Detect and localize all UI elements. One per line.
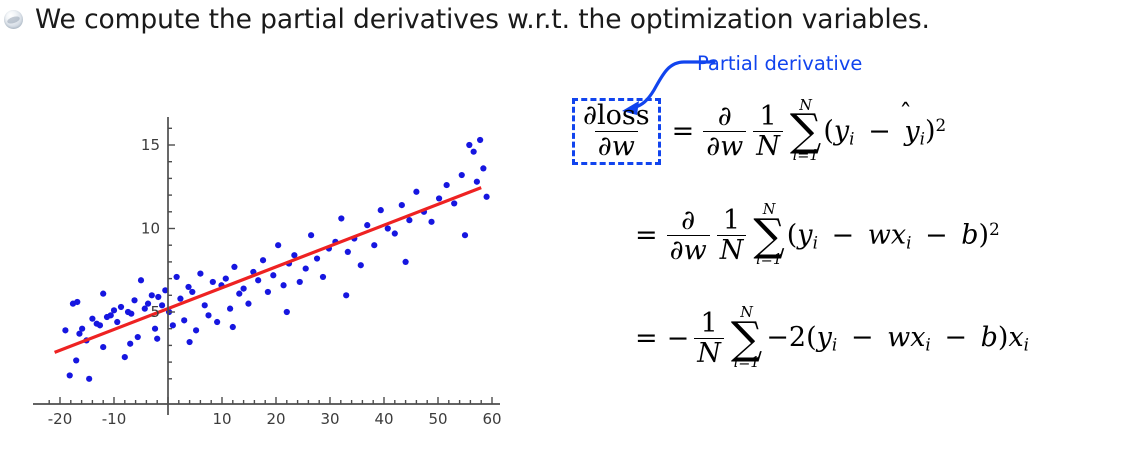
chart-point <box>308 232 314 238</box>
slide-canvas: We compute the partial derivatives w.r.t… <box>0 0 1121 454</box>
chart-point <box>280 282 286 288</box>
chart-point <box>320 274 326 280</box>
one-over-n-1: 1 N <box>753 103 783 161</box>
chart-point <box>227 306 233 312</box>
chart-point <box>138 277 144 283</box>
chart-point <box>255 277 261 283</box>
chart-point <box>86 376 92 382</box>
bullet-text: We compute the partial derivatives w.r.t… <box>35 6 930 34</box>
chart-point <box>245 301 251 307</box>
x-tick-label: 10 <box>212 410 231 428</box>
chart-point <box>338 215 344 221</box>
equation-body-3: −2(yi − wxi − b)xi <box>766 322 1029 355</box>
chart-point <box>378 207 384 213</box>
chart-point <box>181 317 187 323</box>
chart-point <box>223 276 229 282</box>
chart-point <box>236 291 242 297</box>
chart-point <box>197 270 203 276</box>
chart-point <box>114 319 120 325</box>
chart-svg: -20-1010203040506051015 <box>0 90 560 440</box>
equation-line-1: ∂loss ∂w = ∂ ∂w 1 N N ∑ i=1 (yi − ̂yi)2 <box>572 98 946 165</box>
chart-point <box>314 255 320 261</box>
chart-point <box>79 326 85 332</box>
chart-point <box>170 322 176 328</box>
chart-point <box>62 327 68 333</box>
chart-point <box>444 182 450 188</box>
chart-point <box>385 225 391 231</box>
chart-point <box>214 319 220 325</box>
chart-point <box>364 222 370 228</box>
chart-point <box>265 289 271 295</box>
x-tick-label: 50 <box>428 410 447 428</box>
one-over-n-2: 1 N <box>717 207 747 265</box>
chart-data-points <box>62 137 489 382</box>
chart-point <box>127 341 133 347</box>
chart-point <box>111 307 117 313</box>
chart-axes <box>33 117 500 415</box>
summation-2: N ∑ i=1 <box>753 204 784 268</box>
equation-line-3: = − 1 N N ∑ i=1 −2(yi − wxi − b)xi <box>628 307 1029 371</box>
equation-body-1: (yi − ̂yi)2 <box>823 115 946 148</box>
chart-point <box>118 304 124 310</box>
equation-line-2: = ∂ ∂w 1 N N ∑ i=1 (yi − wxi − b)2 <box>628 204 1000 268</box>
chart-point <box>67 372 73 378</box>
chart-point <box>210 279 216 285</box>
chart-point <box>135 334 141 340</box>
chart-point <box>73 357 79 363</box>
chart-point <box>202 302 208 308</box>
chart-point <box>462 232 468 238</box>
chart-point <box>122 354 128 360</box>
chart-point <box>100 344 106 350</box>
chart-point <box>371 242 377 248</box>
x-tick-label: 20 <box>266 410 285 428</box>
chart-point <box>270 272 276 278</box>
chart-point <box>413 189 419 195</box>
chart-point <box>459 172 465 178</box>
y-tick-label: 5 <box>150 303 160 321</box>
chart-point <box>231 264 237 270</box>
chart-point <box>149 292 155 298</box>
chart-point <box>474 179 480 185</box>
equals-sign-1: = <box>672 116 695 147</box>
chart-point <box>297 279 303 285</box>
chart-point <box>260 257 266 263</box>
chart-point <box>128 311 134 317</box>
chart-point <box>189 289 195 295</box>
chart-point <box>358 262 364 268</box>
scatter-chart: -20-1010203040506051015 <box>0 90 560 440</box>
chart-point <box>205 312 211 318</box>
bullet-row: We compute the partial derivatives w.r.t… <box>4 6 930 34</box>
chart-point <box>155 294 161 300</box>
chart-point <box>230 324 236 330</box>
chart-point <box>428 219 434 225</box>
chart-point <box>303 265 309 271</box>
chart-point <box>451 200 457 206</box>
sphere-bullet-icon <box>4 10 23 29</box>
chart-point <box>89 316 95 322</box>
math-derivation-block: Partial derivative ∂loss ∂w = ∂ ∂w 1 N <box>570 52 1121 412</box>
chart-tick-labels: -20-1010203040506051015 <box>48 136 502 428</box>
x-tick-label: -10 <box>102 410 127 428</box>
chart-point <box>275 242 281 248</box>
leading-minus-3: − <box>667 323 690 354</box>
x-tick-label: 60 <box>482 410 501 428</box>
chart-point <box>436 195 442 201</box>
chart-point <box>177 296 183 302</box>
chart-point <box>100 291 106 297</box>
annotation-label: Partial derivative <box>697 52 862 75</box>
chart-point <box>345 249 351 255</box>
chart-point <box>131 297 137 303</box>
chart-point <box>466 142 472 148</box>
equals-sign-3: = <box>635 323 658 354</box>
x-tick-label: -20 <box>48 410 73 428</box>
chart-fit-line <box>55 188 482 353</box>
boxed-denominator: ∂w <box>595 131 638 161</box>
chart-point <box>185 284 191 290</box>
one-over-n-3: 1 N <box>694 310 724 368</box>
regression-line <box>55 188 482 353</box>
chart-point <box>74 299 80 305</box>
summation-1: N ∑ i=1 <box>790 100 821 164</box>
chart-point <box>392 230 398 236</box>
partial-operator-2: ∂ ∂w <box>667 207 710 265</box>
summation-3: N ∑ i=1 <box>731 307 762 371</box>
chart-point <box>187 339 193 345</box>
equals-sign-2: = <box>635 220 658 251</box>
chart-point <box>471 149 477 155</box>
chart-point <box>477 137 483 143</box>
chart-point <box>152 326 158 332</box>
boxed-partial-derivative: ∂loss ∂w <box>572 98 661 165</box>
chart-point <box>343 292 349 298</box>
chart-point <box>399 202 405 208</box>
chart-point <box>193 327 199 333</box>
boxed-numerator: ∂loss <box>580 102 653 131</box>
equation-body-2: (yi − wxi − b)2 <box>787 219 1000 252</box>
partial-operator-1: ∂ ∂w <box>703 103 746 161</box>
y-tick-label: 15 <box>141 136 160 154</box>
y-tick-label: 10 <box>141 220 160 238</box>
chart-point <box>480 165 486 171</box>
chart-point <box>406 217 412 223</box>
chart-point <box>284 309 290 315</box>
chart-point <box>484 194 490 200</box>
chart-point <box>403 259 409 265</box>
chart-point <box>97 322 103 328</box>
chart-point <box>241 286 247 292</box>
chart-point <box>174 274 180 280</box>
chart-point <box>154 336 160 342</box>
x-tick-label: 30 <box>320 410 339 428</box>
x-tick-label: 40 <box>374 410 393 428</box>
